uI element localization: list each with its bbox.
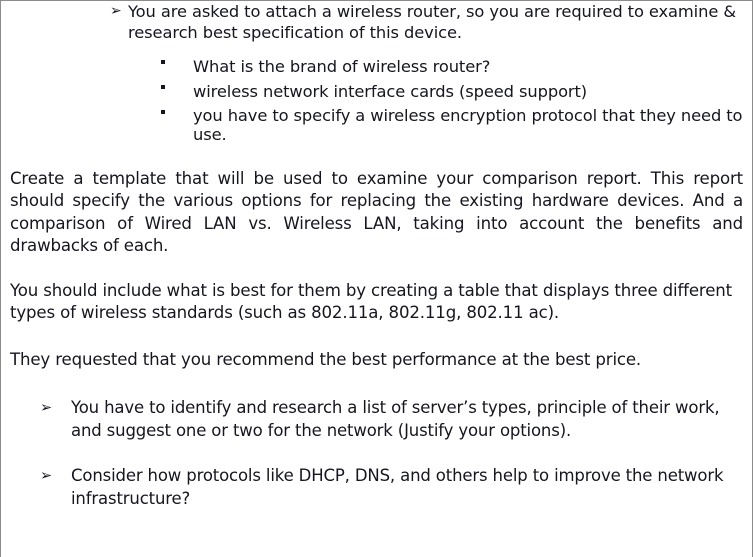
square-bullet-icon xyxy=(161,60,165,64)
bottom-bullet-block-2: ➢ Consider how protocols like DHCP, DNS,… xyxy=(40,465,743,510)
bottom-bullet-text: Consider how protocols like DHCP, DNS, a… xyxy=(71,466,723,508)
paragraph-template-report: Create a template that will be used to e… xyxy=(10,168,743,258)
top-bullet-block: ➢ You are asked to attach a wireless rou… xyxy=(110,2,743,43)
sub-bullet-text: wireless network interface cards (speed … xyxy=(193,82,587,101)
arrow-bullet-icon: ➢ xyxy=(110,1,122,22)
list-item: you have to specify a wireless encryptio… xyxy=(159,106,743,144)
arrow-bullet-icon: ➢ xyxy=(40,465,52,488)
sub-bullet-text: you have to specify a wireless encryptio… xyxy=(193,106,742,144)
bottom-bullet-text: You have to identify and research a list… xyxy=(71,398,719,440)
list-item: What is the brand of wireless router? xyxy=(159,56,743,77)
list-item: ➢ You are asked to attach a wireless rou… xyxy=(110,2,743,43)
arrow-bullet-icon: ➢ xyxy=(40,397,52,420)
square-bullet-icon xyxy=(161,85,165,89)
sub-bullet-list: What is the brand of wireless router? wi… xyxy=(159,56,743,144)
list-item: wireless network interface cards (speed … xyxy=(159,81,743,102)
square-bullet-icon xyxy=(161,110,165,114)
list-item: ➢ Consider how protocols like DHCP, DNS,… xyxy=(40,465,743,510)
sub-bullet-text: What is the brand of wireless router? xyxy=(193,57,490,76)
bottom-bullet-block-1: ➢ You have to identify and research a li… xyxy=(40,397,743,442)
document-page: ➢ You are asked to attach a wireless rou… xyxy=(0,0,753,557)
list-item: ➢ You have to identify and research a li… xyxy=(40,397,743,442)
top-bullet-text: You are asked to attach a wireless route… xyxy=(128,2,743,43)
paragraph-best-price: They requested that you recommend the be… xyxy=(10,349,743,372)
paragraph-wireless-standards: You should include what is best for them… xyxy=(10,280,743,325)
